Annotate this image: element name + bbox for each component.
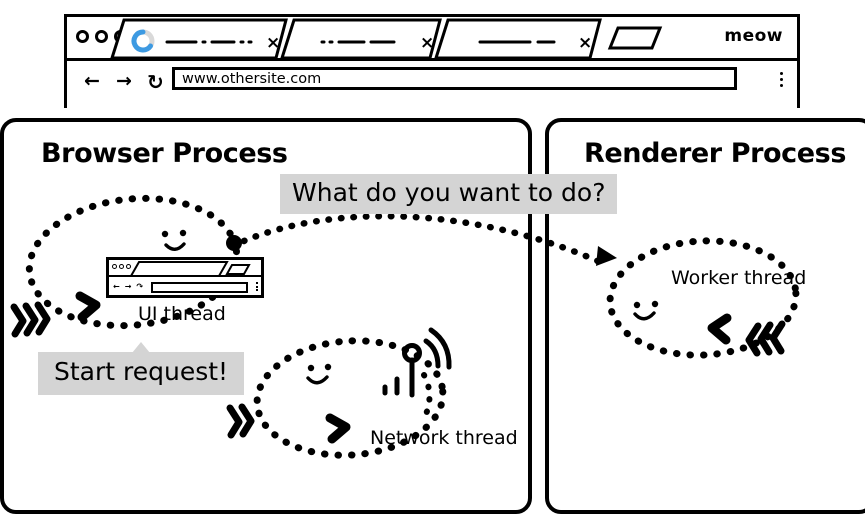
- callout-question: What do you want to do?: [280, 174, 617, 214]
- network-thread-label: Network thread: [370, 427, 518, 449]
- url-text: www.othersite.com: [182, 71, 321, 87]
- close-dot-icon[interactable]: [76, 30, 89, 43]
- tab-strip: meow: [67, 17, 797, 61]
- browser-process-title: Browser Process: [41, 138, 288, 169]
- menu-dot: [780, 84, 783, 87]
- forward-icon[interactable]: →: [116, 72, 132, 91]
- mini-menu-dot: [256, 289, 258, 291]
- browser-menu-icon[interactable]: [780, 72, 783, 87]
- menu-dot: [780, 78, 783, 81]
- ui-thread-label: UI thread: [138, 303, 226, 325]
- worker-thread-label: Worker thread: [671, 267, 806, 289]
- mini-menu-icon: [256, 282, 258, 291]
- reload-icon[interactable]: ↻: [147, 72, 164, 92]
- window-controls[interactable]: [76, 30, 127, 43]
- mini-tab-shapes: [109, 260, 261, 277]
- mini-menu-dot: [256, 282, 258, 284]
- mini-forward-icon: →: [125, 283, 132, 291]
- browser-window-icon: ← → ↷: [106, 257, 264, 298]
- mini-menu-dot: [256, 286, 258, 288]
- callout-start-request: Start request!: [38, 352, 244, 395]
- maximize-dot-icon[interactable]: [114, 30, 127, 43]
- renderer-process-title: Renderer Process: [584, 138, 846, 169]
- address-bar[interactable]: www.othersite.com: [172, 67, 737, 90]
- mini-toolbar: ← → ↷: [109, 279, 261, 298]
- mini-address-bar: [151, 282, 248, 293]
- minimize-dot-icon[interactable]: [95, 30, 108, 43]
- mini-back-icon: ←: [113, 283, 120, 291]
- browser-window: meow ← → ↻ www.othersite.com: [64, 14, 800, 108]
- mini-nav-icons: ← → ↷: [113, 283, 143, 291]
- back-icon[interactable]: ←: [84, 72, 100, 91]
- browser-toolbar: ← → ↻ www.othersite.com: [67, 61, 797, 108]
- mini-reload-icon: ↷: [136, 283, 143, 291]
- mini-tab-strip: [109, 260, 261, 277]
- menu-dot: [780, 72, 783, 75]
- brand-label: meow: [724, 26, 783, 46]
